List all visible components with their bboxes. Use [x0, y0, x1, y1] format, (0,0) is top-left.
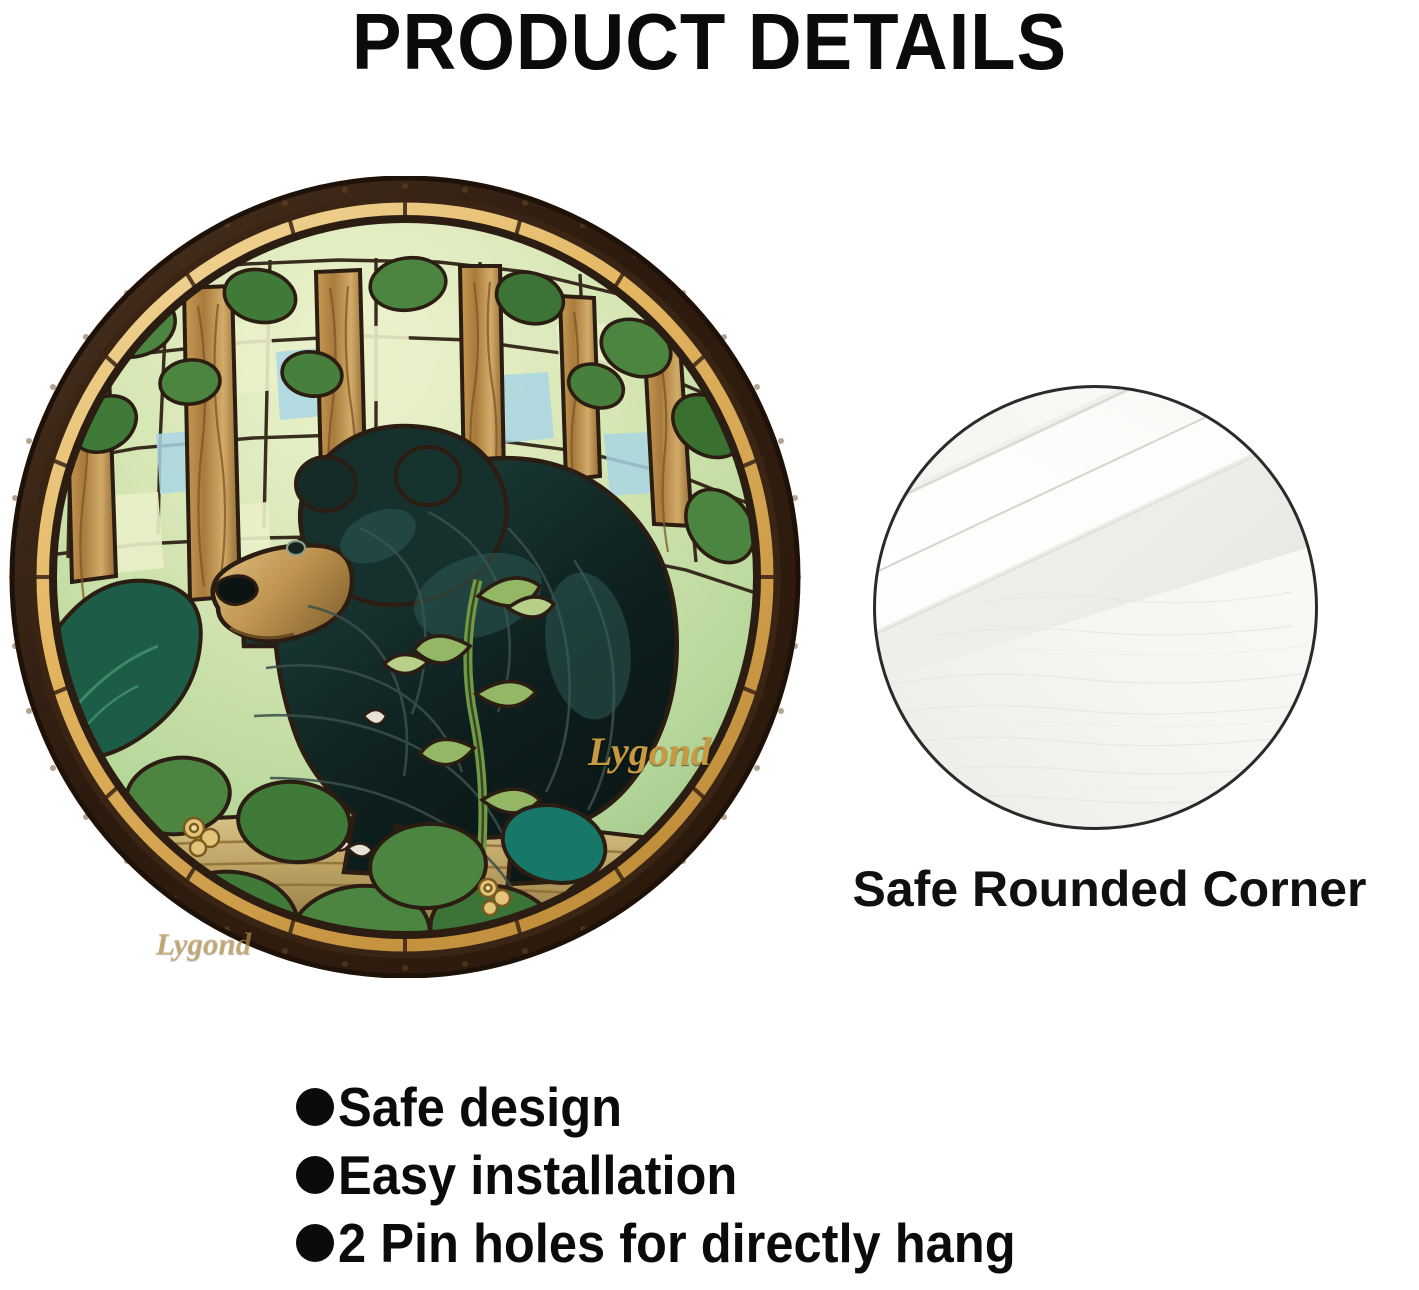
safe-rounded-corner-photo: [872, 384, 1319, 831]
list-item: 2 Pin holes for directly hang: [296, 1209, 1346, 1277]
feature-label: Safe design: [338, 1080, 622, 1135]
product-details-page: PRODUCT DETAILS: [0, 0, 1419, 1290]
safe-rounded-corner-caption: Safe Rounded Corner: [800, 860, 1419, 918]
list-item: Safe design: [296, 1073, 1346, 1141]
feature-label: 2 Pin holes for directly hang: [338, 1216, 1016, 1271]
feature-label: Easy installation: [338, 1148, 737, 1203]
bullet-dot-icon: [296, 1224, 334, 1262]
page-title: PRODUCT DETAILS: [50, 0, 1370, 88]
bullet-dot-icon: [296, 1156, 334, 1194]
stained-glass-artwork: Lygond Lygond: [8, 176, 802, 978]
list-item: Easy installation: [296, 1141, 1346, 1209]
bullet-dot-icon: [296, 1088, 334, 1126]
feature-list: Safe design Easy installation 2 Pin hole…: [296, 1073, 1346, 1277]
